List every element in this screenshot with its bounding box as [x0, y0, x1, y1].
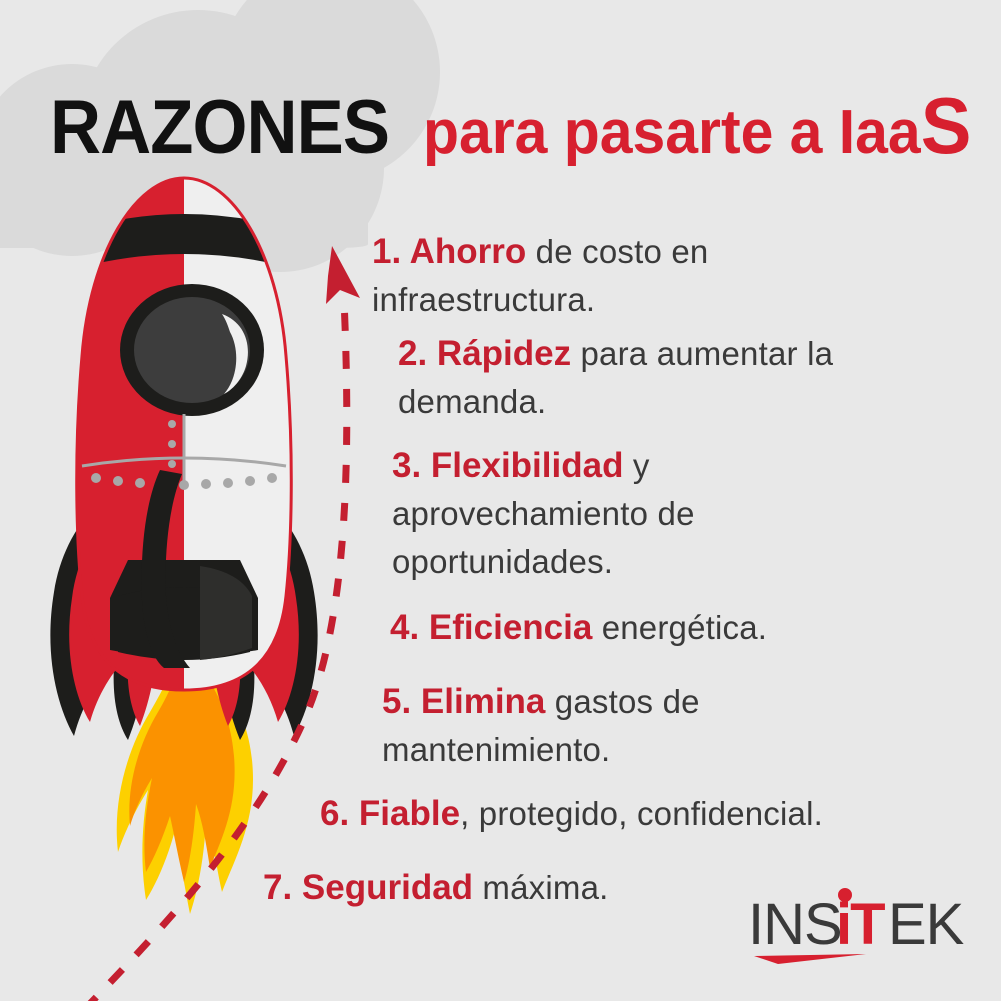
logo-part-1: INS [748, 892, 842, 957]
insitek-logo: INS iT EK [748, 888, 980, 970]
reason-lead: 6. Fiable [320, 794, 460, 833]
reason-rest: máxima. [473, 869, 608, 906]
reason-lead: 5. Elimina [382, 682, 545, 721]
list-item: 6. Fiable, protegido, confidencial. [320, 790, 960, 838]
list-item: 5. Elimina gastos de mantenimiento. [382, 678, 832, 774]
list-item: 7. Seguridad máxima. [263, 864, 823, 912]
reason-rest: , protegido, confidencial. [460, 795, 823, 832]
infographic-poster: RAZONESpara pasarte a IaaS 1. Ahorro de … [0, 0, 1001, 1001]
reason-lead: 3. Flexibilidad [392, 446, 623, 485]
logo-dot-icon [838, 888, 852, 902]
list-item: 2. Rápidez para aumentar la demanda. [398, 330, 898, 426]
list-item: 4. Eficiencia energética. [390, 604, 910, 652]
list-item: 3. Flexibilidad y aprovechamiento de opo… [392, 442, 812, 586]
reason-lead: 1. Ahorro [372, 232, 526, 271]
reason-lead: 4. Eficiencia [390, 608, 592, 647]
list-item: 1. Ahorro de costo en infraestructura. [372, 228, 842, 324]
reason-rest: energética. [592, 609, 767, 646]
reasons-list: 1. Ahorro de costo en infraestructura. 2… [0, 0, 1001, 1001]
reason-lead: 2. Rápidez [398, 334, 571, 373]
reason-lead: 7. Seguridad [263, 868, 473, 907]
logo-part-3: EK [888, 892, 965, 957]
